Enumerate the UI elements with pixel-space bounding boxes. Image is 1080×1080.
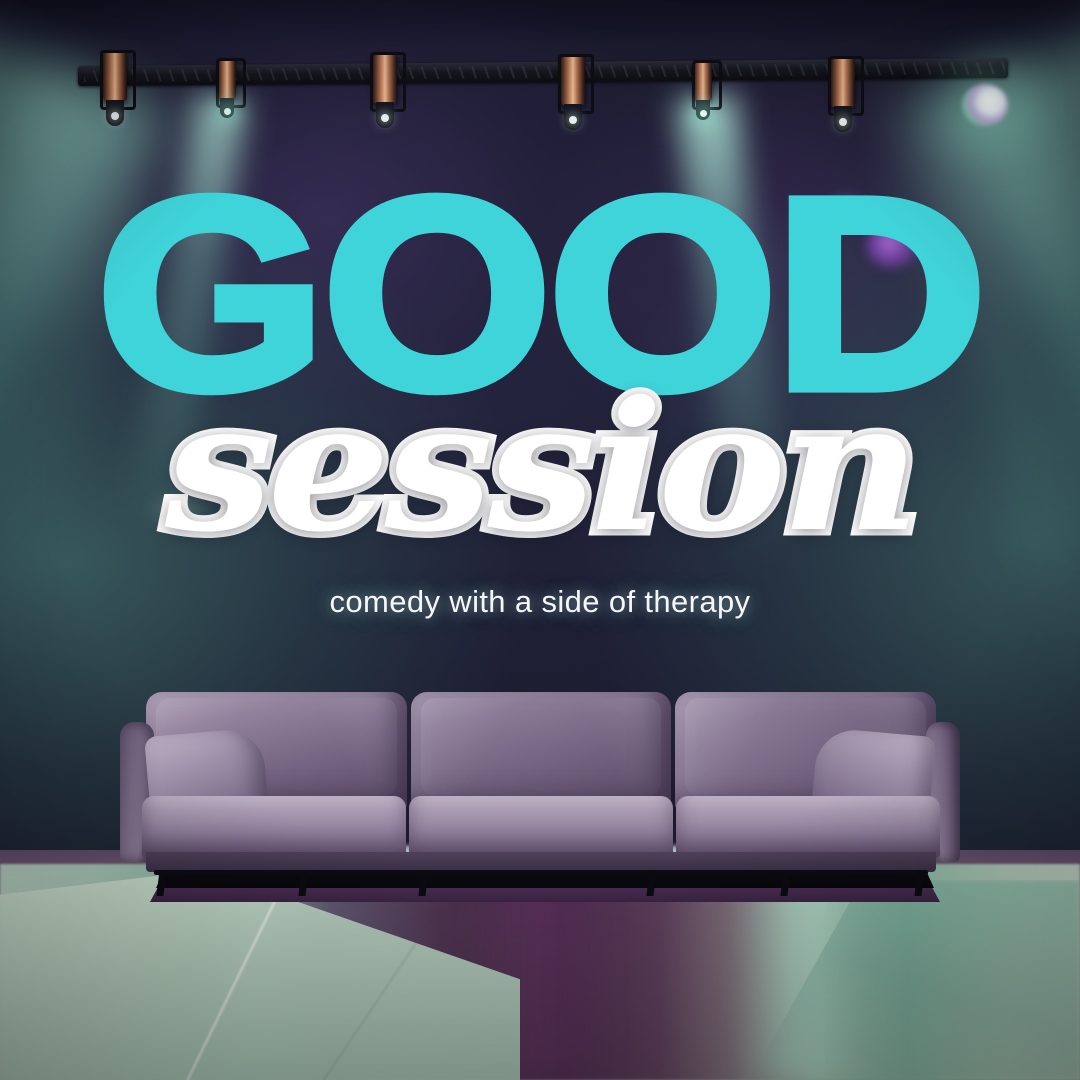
- lighting-truss: [78, 54, 1008, 90]
- spotlight-bulb: [111, 112, 119, 120]
- spotlight-icon-2: [214, 58, 240, 128]
- spotlight-icon-3: [368, 52, 402, 138]
- three-seat-sofa: [120, 692, 960, 897]
- spotlight-bulb: [381, 114, 389, 122]
- lens-flare-white-icon: [962, 84, 1008, 126]
- ceiling-band: [0, 0, 1080, 46]
- spotlight-icon-6: [826, 56, 860, 142]
- spotlight-bulb: [700, 110, 707, 117]
- sofa-base: [146, 852, 936, 872]
- spotlight-icon-5: [690, 60, 716, 130]
- seat-cushion-center: [409, 796, 673, 858]
- spotlight-bulb: [569, 116, 577, 124]
- spotlight-bulb: [839, 118, 847, 126]
- tagline: comedy with a side of therapy: [0, 584, 1080, 620]
- spotlight-bulb: [224, 108, 231, 115]
- back-cushion-center: [411, 692, 672, 810]
- subtitle-script: session: [0, 378, 1080, 556]
- spotlight-icon-1: [98, 50, 132, 136]
- sofa-seat-row: [142, 796, 940, 858]
- spotlight-icon-4: [556, 54, 590, 140]
- seat-cushion-left: [142, 796, 406, 858]
- sofa-leg-bar: [154, 870, 928, 875]
- seat-cushion-right: [676, 796, 940, 858]
- poster-canvas: GOOD session comedy with a side of thera…: [0, 0, 1080, 1080]
